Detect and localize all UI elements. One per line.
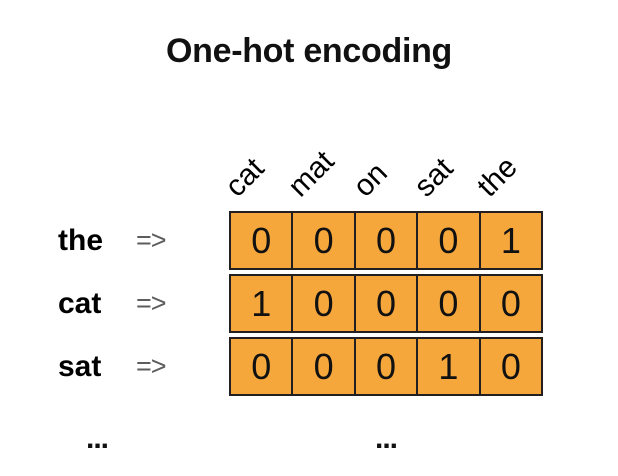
table-row: 1 0 0 0 0 xyxy=(229,274,543,333)
row-label-sat: sat => xyxy=(58,337,223,396)
arrow-right-icon: => xyxy=(136,290,166,317)
matrix-cell: 0 xyxy=(356,276,418,331)
matrix-cell: 0 xyxy=(356,213,418,268)
matrix-cell: 0 xyxy=(481,276,541,331)
matrix-cell: 0 xyxy=(481,339,541,394)
column-header-the: the xyxy=(471,150,525,204)
arrow-right-icon: => xyxy=(136,353,166,380)
column-header-on: on xyxy=(347,156,395,204)
row-label-group: the => cat => sat => xyxy=(58,211,223,400)
matrix-cell: 0 xyxy=(418,276,480,331)
arrow-right-icon: => xyxy=(136,227,166,254)
matrix-cell: 1 xyxy=(418,339,480,394)
column-header-sat: sat xyxy=(408,152,460,204)
slide-canvas: One-hot encoding cat mat on sat the the … xyxy=(0,0,618,476)
matrix-cell: 0 xyxy=(293,213,355,268)
matrix-cell: 0 xyxy=(293,339,355,394)
matrix-cell: 0 xyxy=(356,339,418,394)
matrix-cell: 1 xyxy=(231,276,293,331)
ellipsis-rows: ... xyxy=(86,424,108,454)
matrix-cell: 0 xyxy=(231,339,293,394)
row-label-word: the xyxy=(58,226,136,256)
matrix-cell: 0 xyxy=(418,213,480,268)
table-row: 0 0 0 0 1 xyxy=(229,211,543,270)
ellipsis-matrix: ... xyxy=(375,424,397,454)
column-header-cat: cat xyxy=(219,152,271,204)
row-label-cat: cat => xyxy=(58,274,223,333)
matrix-cell: 0 xyxy=(293,276,355,331)
row-label-word: cat xyxy=(58,289,136,319)
column-header-mat: mat xyxy=(282,145,341,204)
column-header-group: cat mat on sat the xyxy=(229,112,559,204)
matrix-cell: 0 xyxy=(231,213,293,268)
row-label-word: sat xyxy=(58,352,136,382)
matrix-cell: 1 xyxy=(481,213,541,268)
page-title: One-hot encoding xyxy=(0,32,618,71)
one-hot-matrix: 0 0 0 0 1 1 0 0 0 0 0 0 0 1 0 xyxy=(229,211,543,400)
row-label-the: the => xyxy=(58,211,223,270)
table-row: 0 0 0 1 0 xyxy=(229,337,543,396)
